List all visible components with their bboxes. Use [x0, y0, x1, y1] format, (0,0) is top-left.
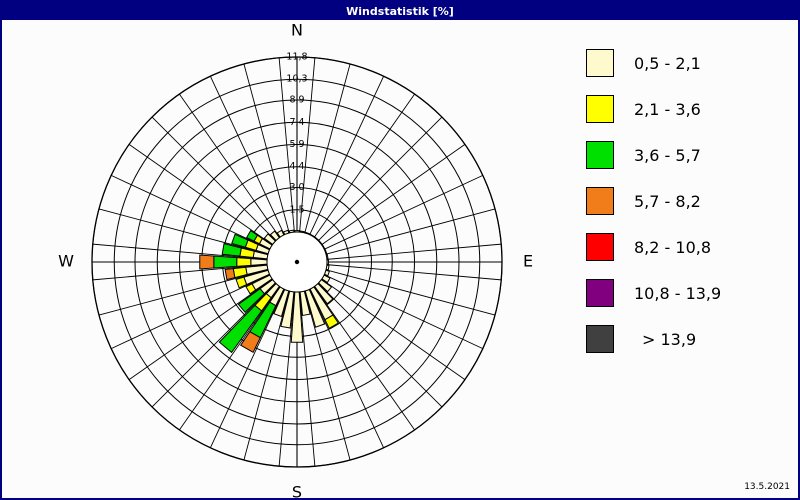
compass-label-west: W — [58, 252, 74, 271]
radial-tick-label: 4,4 — [289, 161, 304, 172]
legend-swatch — [586, 187, 614, 215]
grid-spoke — [305, 64, 350, 233]
legend-swatch — [586, 49, 614, 77]
legend-swatch — [586, 141, 614, 169]
grid-spoke — [152, 283, 276, 407]
grid-spoke — [111, 175, 270, 249]
legend: 0,5 - 2,12,1 - 3,63,6 - 5,75,7 - 8,28,2 … — [586, 40, 786, 362]
grid-spoke — [318, 117, 442, 241]
grid-spoke — [322, 279, 465, 379]
petal-segment — [225, 269, 235, 280]
windrose-window: Windstatistik [%] 1,53,04,45,97,48,910,3… — [0, 0, 800, 500]
grid-spoke — [310, 289, 384, 448]
petal-segment — [237, 258, 251, 267]
grid-spoke — [318, 283, 442, 407]
grid-spoke — [324, 175, 483, 249]
legend-label: 10,8 - 13,9 — [634, 284, 721, 303]
grid-spoke — [179, 287, 279, 430]
grid-spoke — [314, 287, 414, 430]
radial-tick-label: 11,8 — [286, 52, 307, 63]
petal-segment — [200, 255, 214, 269]
compass-label-south: S — [292, 483, 302, 499]
legend-label: 3,6 - 5,7 — [634, 146, 701, 165]
compass-label-east: E — [523, 252, 533, 271]
legend-item: 5,7 - 8,2 — [586, 178, 786, 224]
legend-swatch — [586, 95, 614, 123]
grid-spoke — [99, 209, 268, 254]
legend-item: 0,5 - 2,1 — [586, 40, 786, 86]
legend-swatch — [586, 279, 614, 307]
grid-spoke — [324, 275, 483, 349]
legend-label: 8,2 - 10,8 — [634, 238, 711, 257]
grid-spoke — [326, 209, 495, 254]
legend-swatch — [586, 325, 614, 353]
grid-spoke — [179, 94, 279, 237]
grid-spoke — [310, 76, 384, 235]
radial-tick-label: 5,9 — [289, 139, 304, 150]
grid-spoke — [129, 144, 272, 244]
center-hole — [267, 232, 327, 292]
windrose-chart: 1,53,04,45,97,48,910,311,8NESW — [2, 20, 562, 498]
legend-item: 8,2 - 10,8 — [586, 224, 786, 270]
radial-tick-label: 3,0 — [289, 182, 304, 193]
radial-tick-label: 1,5 — [289, 204, 304, 215]
window-title: Windstatistik [%] — [346, 5, 454, 18]
legend-swatch — [586, 233, 614, 261]
radial-tick-label: 7,4 — [289, 117, 304, 128]
legend-label: 5,7 - 8,2 — [634, 192, 701, 211]
radial-tick-label: 10,3 — [286, 74, 307, 85]
calm-marker — [295, 260, 299, 264]
legend-item: 3,6 - 5,7 — [586, 132, 786, 178]
petal-segment — [251, 259, 267, 266]
legend-label: 2,1 - 3,6 — [634, 100, 701, 119]
grid-spoke — [210, 76, 284, 235]
grid-spoke — [152, 117, 276, 241]
window-titlebar: Windstatistik [%] — [2, 2, 798, 20]
grid-spoke — [244, 64, 289, 233]
legend-item: 10,8 - 13,9 — [586, 270, 786, 316]
legend-item: 2,1 - 3,6 — [586, 86, 786, 132]
petal-segment — [214, 256, 237, 268]
date-stamp: 13.5.2021 — [744, 482, 790, 492]
grid-spoke — [314, 94, 414, 237]
compass-label-north: N — [291, 21, 303, 40]
grid-spoke — [322, 144, 465, 244]
legend-item: > 13,9 — [586, 316, 786, 362]
legend-label: > 13,9 — [642, 330, 696, 349]
radial-tick-label: 8,9 — [289, 95, 304, 106]
grid-spoke — [326, 270, 495, 315]
legend-label: 0,5 - 2,1 — [634, 54, 701, 73]
